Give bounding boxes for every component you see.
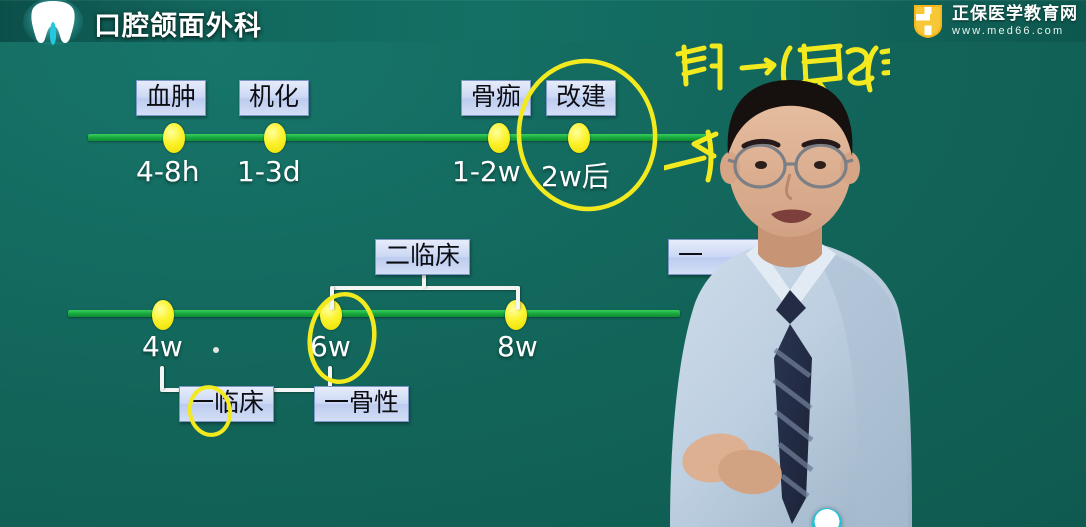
timeline-top-tick-2: 1-2w xyxy=(452,155,521,188)
timeline-top-tick-3: 2w后 xyxy=(541,155,610,195)
timeline-top-node-3 xyxy=(568,123,590,153)
label-chip-lower-mid: 一骨性 xyxy=(314,386,409,422)
bracket-upper xyxy=(330,286,520,312)
tooth-icon xyxy=(22,0,84,46)
timeline-top-tick-0: 4-8h xyxy=(136,155,199,188)
stage-chip-2: 骨痂 xyxy=(461,80,531,116)
timeline-bottom-node-0 xyxy=(152,300,174,330)
timeline-top-node-0 xyxy=(163,123,185,153)
brand-name: 正保医学教育网 xyxy=(952,6,1078,23)
timeline-top-tick-1: 1-3d xyxy=(237,155,301,188)
stage-chip-0: 血肿 xyxy=(136,80,206,116)
cross-shield-icon xyxy=(911,3,945,39)
brand-url: www.med66.com xyxy=(952,26,1078,37)
label-chip-upper: 二临床 xyxy=(375,239,470,275)
ink-dot xyxy=(208,340,228,360)
timeline-bottom-tick-0: 4w xyxy=(142,330,183,363)
stage-chip-1: 机化 xyxy=(239,80,309,116)
timeline-bottom-tick-1: 6w xyxy=(310,330,351,363)
timeline-top-node-1 xyxy=(264,123,286,153)
header-band: 口腔颌面外科 正保医学教育网 www.med66.com xyxy=(0,0,1086,42)
stage-chip-3: 改建 xyxy=(546,80,616,116)
presenter-video xyxy=(640,58,940,527)
timeline-bottom-tick-2: 8w xyxy=(497,330,538,363)
brand-logo: 正保医学教育网 www.med66.com xyxy=(911,0,1078,42)
timeline-top-node-2 xyxy=(488,123,510,153)
page-title: 口腔颌面外科 xyxy=(94,4,262,43)
label-chip-lower-left: 一临床 xyxy=(179,386,274,422)
lecture-slide: 口腔颌面外科 正保医学教育网 www.med66.com 血肿 4-8h 机化 … xyxy=(0,0,1086,527)
